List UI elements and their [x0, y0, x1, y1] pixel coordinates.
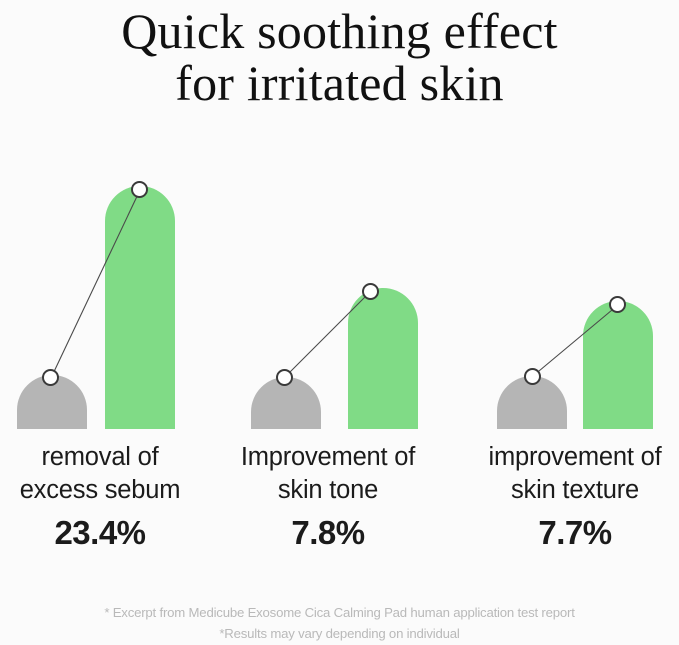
footnote-line-2: *Results may vary depending on individua… — [0, 623, 679, 644]
bar-after-removal-of-excess-sebum — [105, 186, 175, 429]
caption-removal-of-excess-sebum: removal of excess sebum 23.4% — [0, 441, 210, 554]
marker-after-improvement-of-skin-tone — [362, 283, 379, 300]
marker-after-improvement-of-skin-texture — [609, 296, 626, 313]
caption-value: 7.7% — [464, 511, 679, 554]
bar-after-improvement-of-skin-texture — [583, 301, 653, 429]
caption-value: 23.4% — [0, 511, 210, 554]
footnote-line-1: * Excerpt from Medicube Exosome Cica Cal… — [0, 602, 679, 623]
caption-value: 7.8% — [217, 511, 439, 554]
footnote: * Excerpt from Medicube Exosome Cica Cal… — [0, 602, 679, 644]
caption-line-2: excess sebum — [0, 474, 210, 507]
marker-before-removal-of-excess-sebum — [42, 369, 59, 386]
caption-line-1: improvement of — [464, 441, 679, 474]
caption-line-1: removal of — [0, 441, 210, 474]
marker-before-improvement-of-skin-tone — [276, 369, 293, 386]
caption-line-2: skin tone — [217, 474, 439, 507]
caption-improvement-of-skin-tone: Improvement of skin tone 7.8% — [217, 441, 439, 554]
marker-after-removal-of-excess-sebum — [131, 181, 148, 198]
caption-line-2: skin texture — [464, 474, 679, 507]
marker-before-improvement-of-skin-texture — [524, 368, 541, 385]
caption-line-1: Improvement of — [217, 441, 439, 474]
bar-after-improvement-of-skin-tone — [348, 288, 418, 429]
caption-improvement-of-skin-texture: improvement of skin texture 7.7% — [464, 441, 679, 554]
